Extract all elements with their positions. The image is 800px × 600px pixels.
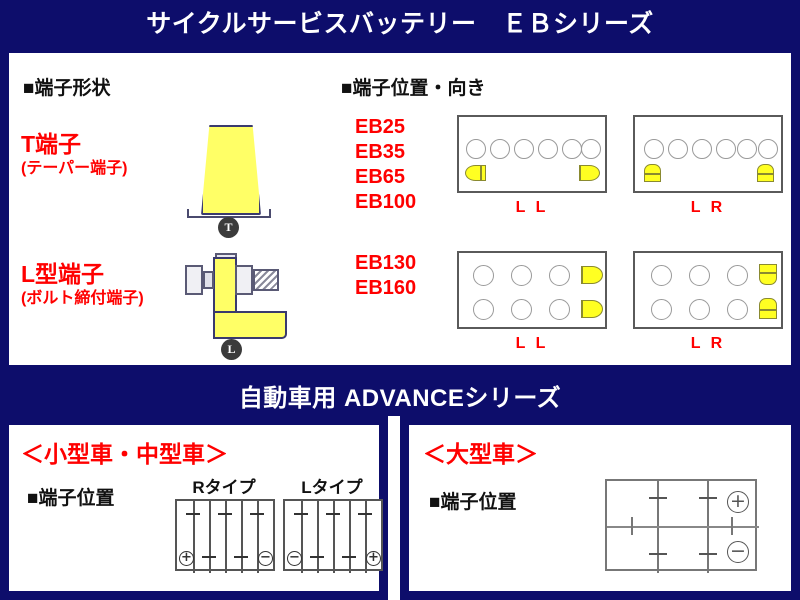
cell-divider <box>209 501 211 573</box>
l-terminal-badge: L <box>221 339 242 360</box>
vent-cap <box>538 139 558 159</box>
polarity-negative-right: − <box>258 551 273 566</box>
cell-divider <box>225 501 227 573</box>
battery-terminal-diagram: サイクルサービスバッテリー ＥＢシリーズ ■端子形状 ■端子位置・向き T端子 … <box>0 0 800 600</box>
connector-strap <box>699 497 717 499</box>
header-banner-advance-series: 自動車用 ADVANCEシリーズ <box>0 374 800 416</box>
connector-strap <box>250 513 264 515</box>
connector-strap <box>631 517 633 535</box>
battery-orientation-label: L R <box>633 335 783 353</box>
battery-diagram-eb-row1-lr: L R <box>633 115 783 193</box>
battery-orientation-label: L L <box>457 199 607 217</box>
connector-strap <box>358 513 372 515</box>
l-terminal-figure: L <box>169 251 299 381</box>
l-terminal-washer <box>203 271 214 289</box>
l-terminal-nut-right <box>235 265 253 295</box>
connector-strap <box>342 556 356 558</box>
terminal-top-right <box>759 264 777 285</box>
model-list-row2: EB130 EB160 <box>355 251 416 301</box>
cell-divider <box>317 501 319 573</box>
vent-cap <box>511 265 532 286</box>
terminal-bottom-bar <box>759 309 777 311</box>
vent-cap <box>716 139 736 159</box>
terminal-left-bar <box>480 165 482 181</box>
model-eb25: EB25 <box>355 115 416 140</box>
vent-cap <box>511 299 532 320</box>
model-list-row1: EB25 EB35 EB65 EB100 <box>355 115 416 215</box>
connector-strap <box>186 513 200 515</box>
vent-cap <box>473 265 494 286</box>
l-terminal-bolt-thread <box>253 269 279 291</box>
terminal-left <box>465 165 486 181</box>
connector-strap <box>202 556 216 558</box>
vent-cap <box>549 265 570 286</box>
vent-cap <box>689 265 710 286</box>
battery-diagram-large-vehicle: + − <box>605 479 757 571</box>
cell-divider <box>349 501 351 573</box>
polarity-positive-right: + <box>366 551 381 566</box>
terminal-left-bar <box>644 173 661 175</box>
terminal-t-sub: (テーパー端子) <box>21 158 128 179</box>
vent-cap <box>651 299 672 320</box>
connector-strap <box>234 556 248 558</box>
connector-strap <box>218 513 232 515</box>
header-title-eb: サイクルサービスバッテリー ＥＢシリーズ <box>146 4 654 40</box>
heading-terminal-position: ■端子位置・向き <box>341 73 485 100</box>
battery-diagram-eb-row2-ll: L L <box>457 251 607 329</box>
polarity-negative-bottom-right: − <box>727 541 749 563</box>
model-eb100: EB100 <box>355 190 416 215</box>
battery-diagram-eb-row2-lr: L R <box>633 251 783 329</box>
small-vehicle-position-label: ■端子位置 <box>27 483 114 510</box>
battery-orientation-label: L L <box>457 335 607 353</box>
battery-diagram-r-type: + − <box>175 499 275 571</box>
battery-diagram-eb-row1-ll: L L <box>457 115 607 193</box>
small-vehicle-title: ＜小型車・中型車＞ <box>21 435 228 469</box>
terminal-label-t: T端子 (テーパー端子) <box>21 131 128 179</box>
battery-body <box>457 115 607 193</box>
polarity-negative-left: − <box>287 551 302 566</box>
eb-series-panel: ■端子形状 ■端子位置・向き T端子 (テーパー端子) T L型端子 (ボルト締… <box>0 44 800 374</box>
model-eb130: EB130 <box>355 251 416 276</box>
header-banner-eb-series: サイクルサービスバッテリー ＥＢシリーズ <box>0 0 800 44</box>
cell-divider <box>193 501 195 573</box>
vent-cap <box>689 299 710 320</box>
terminal-top-bar <box>581 266 583 284</box>
center-divider <box>607 526 759 528</box>
battery-orientation-label: L R <box>633 199 783 217</box>
large-vehicle-panel: ＜大型車＞ ■端子位置 + − <box>400 416 800 600</box>
vent-cap <box>581 139 601 159</box>
terminal-top-bar <box>759 272 777 274</box>
connector-strap <box>294 513 308 515</box>
vent-cap <box>668 139 688 159</box>
cell-divider <box>241 501 243 573</box>
vent-cap <box>490 139 510 159</box>
r-type-label: Rタイプ <box>169 473 279 498</box>
battery-body <box>633 251 783 329</box>
terminal-l-sub: (ボルト締付端子) <box>21 288 144 309</box>
model-eb160: EB160 <box>355 276 416 301</box>
vent-cap <box>758 139 778 159</box>
terminal-right-bar <box>757 173 774 175</box>
connector-strap <box>699 553 717 555</box>
connector-strap <box>649 553 667 555</box>
vent-cap <box>692 139 712 159</box>
large-vehicle-position-label: ■端子位置 <box>429 487 516 514</box>
l-type-label: Lタイプ <box>277 473 387 498</box>
vent-cap <box>466 139 486 159</box>
vent-cap <box>562 139 582 159</box>
connector-strap <box>310 556 324 558</box>
battery-body <box>633 115 783 193</box>
t-terminal-taper-shape <box>201 125 261 215</box>
connector-strap <box>326 513 340 515</box>
terminal-right <box>579 165 600 181</box>
terminal-top-right <box>581 266 603 284</box>
model-eb65: EB65 <box>355 165 416 190</box>
l-terminal-horizontal-arm <box>213 311 287 339</box>
model-eb35: EB35 <box>355 140 416 165</box>
small-mid-vehicle-panel: ＜小型車・中型車＞ ■端子位置 Rタイプ + − Lタイプ <box>0 416 388 600</box>
vent-cap <box>514 139 534 159</box>
cell-divider <box>333 501 335 573</box>
terminal-label-l: L型端子 (ボルト締付端子) <box>21 261 144 309</box>
polarity-positive-left: + <box>179 551 194 566</box>
terminal-t-name: T端子 <box>21 131 128 158</box>
connector-strap <box>649 497 667 499</box>
connector-strap <box>731 517 733 535</box>
battery-body <box>457 251 607 329</box>
heading-terminal-shape: ■端子形状 <box>23 73 110 100</box>
vent-cap <box>727 265 748 286</box>
t-terminal-badge: T <box>218 217 239 238</box>
vent-cap <box>549 299 570 320</box>
terminal-bottom-right <box>581 300 603 318</box>
l-terminal-nut-left <box>185 265 203 295</box>
vent-cap <box>727 299 748 320</box>
terminal-right-bar <box>579 165 581 181</box>
vent-cap <box>473 299 494 320</box>
vent-cap <box>651 265 672 286</box>
terminal-bottom-bar <box>581 300 583 318</box>
cell-divider <box>301 501 303 573</box>
vent-cap <box>644 139 664 159</box>
vent-cap <box>737 139 757 159</box>
terminal-l-name: L型端子 <box>21 261 144 288</box>
t-terminal-figure: T <box>179 121 279 241</box>
battery-diagram-l-type: − + <box>283 499 383 571</box>
header-title-advance: 自動車用 ADVANCEシリーズ <box>239 378 561 413</box>
large-vehicle-title: ＜大型車＞ <box>423 435 538 469</box>
polarity-positive-top-right: + <box>727 491 749 513</box>
